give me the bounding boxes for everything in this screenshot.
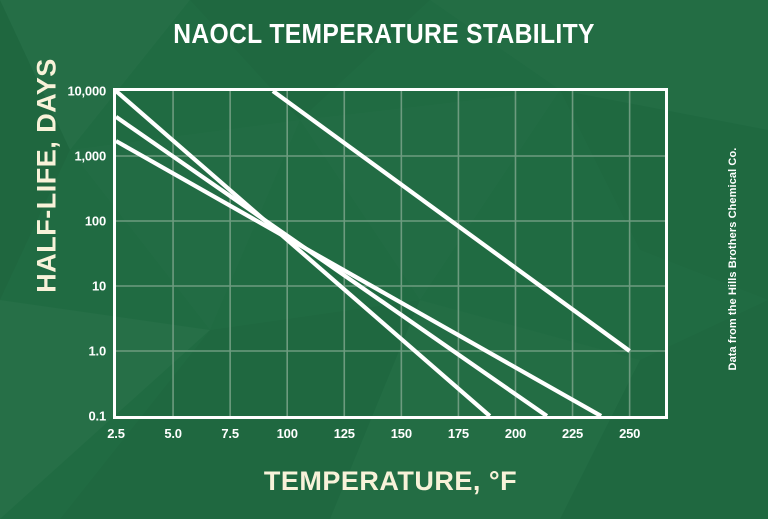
y-axis-tick-label: 1.0 [89, 344, 106, 359]
data-line-2 [116, 117, 547, 416]
page-title: NAOCL TEMPERATURE STABILITY [46, 18, 722, 50]
y-axis-title: HALF-LIFE, DAYS [32, 41, 63, 311]
y-axis-tick-label: 1,000 [74, 149, 106, 164]
y-axis-tick-label: 0.1 [89, 409, 106, 424]
y-axis-tick-label: 10 [92, 279, 106, 294]
plot-canvas [116, 91, 665, 416]
x-axis-tick-label: 175 [448, 426, 469, 441]
x-axis-tick-label: 200 [505, 426, 526, 441]
plot-area [113, 88, 668, 419]
data-line-1 [116, 91, 490, 416]
chart-poster: NAOCL TEMPERATURE STABILITY HALF-LIFE, D… [0, 0, 768, 519]
y-axis-tick-label: 100 [85, 214, 106, 229]
x-axis-tick-label: 150 [391, 426, 412, 441]
source-attribution: Data from the Hills Brothers Chemical Co… [727, 109, 739, 409]
y-axis-tick-label: 10,000 [67, 84, 106, 99]
x-axis-tick-label: 2.5 [107, 426, 124, 441]
x-axis-tick-label: 125 [334, 426, 355, 441]
x-axis-tick-label: 250 [619, 426, 640, 441]
x-axis-tick-label: 5.0 [164, 426, 181, 441]
x-axis-tick-label: 225 [562, 426, 583, 441]
x-axis-title: TEMPERATURE, °F [113, 466, 668, 497]
x-axis-tick-label: 7.5 [221, 426, 238, 441]
x-axis-tick-label: 100 [277, 426, 298, 441]
